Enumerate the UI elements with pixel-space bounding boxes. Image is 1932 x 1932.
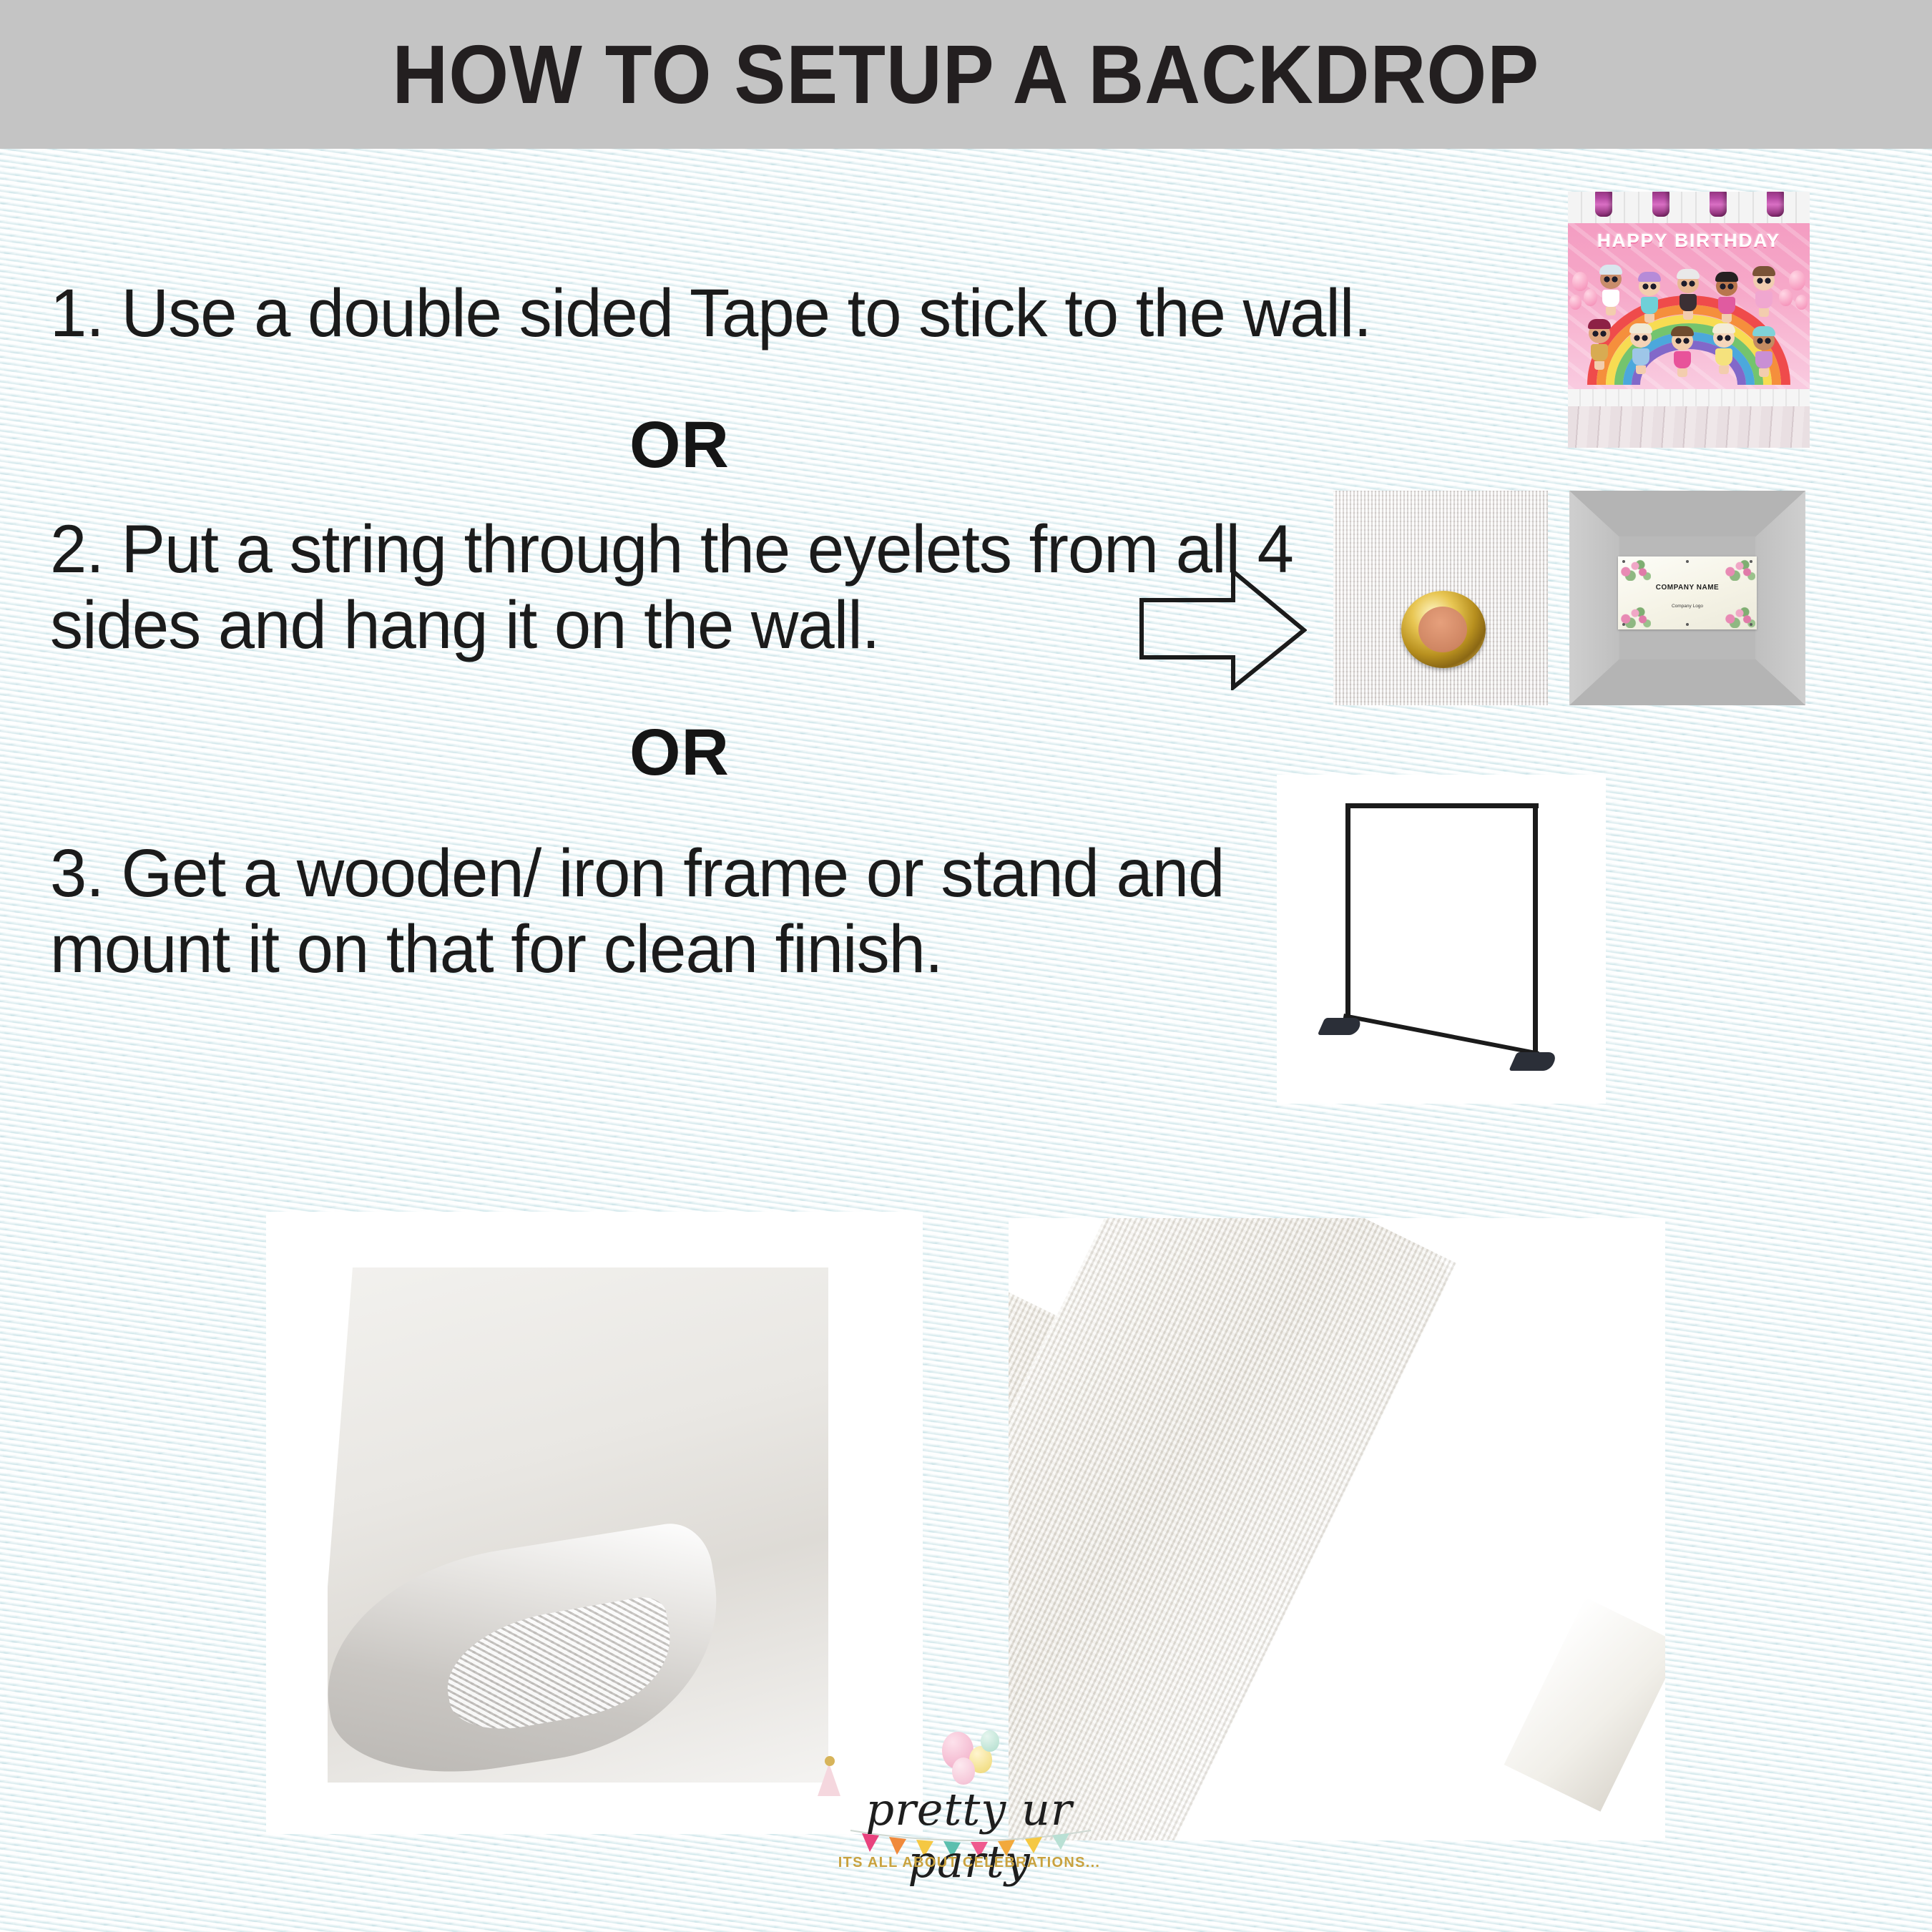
wooden-floor: [1568, 406, 1810, 448]
lol-doll: [1677, 273, 1700, 320]
lol-doll: [1599, 269, 1622, 315]
right-arrow-icon: [1139, 569, 1307, 690]
clip-strip: [1568, 192, 1810, 225]
photo-lol-birthday-backdrop: HAPPY BIRTHDAY: [1568, 192, 1810, 448]
party-hat-pom-icon: [825, 1756, 835, 1766]
wall-left-panel: [1569, 491, 1625, 705]
photo-backdrop-stand: [1277, 775, 1606, 1104]
backdrop-clip-icon: [1710, 192, 1727, 217]
separator-or-1: OR: [629, 408, 730, 483]
lol-backdrop-panel: HAPPY BIRTHDAY: [1568, 223, 1810, 389]
grommet-icon: [1750, 560, 1752, 563]
backdrop-clip-icon: [1595, 192, 1612, 217]
lol-doll: [1671, 330, 1694, 377]
backdrop-clip-icon: [1767, 192, 1784, 217]
floral-banner: COMPANY NAME Company Logo: [1618, 556, 1757, 629]
backdrop-clip-icon: [1652, 192, 1669, 217]
stand-foot-right: [1509, 1052, 1559, 1071]
grommet-icon: [1686, 623, 1689, 626]
balloon-decor: [1584, 289, 1597, 306]
infographic-canvas: HOW TO SETUP A BACKDROP 1. Use a double …: [0, 0, 1932, 1932]
brand-name: pretty ur party: [798, 1783, 1141, 1888]
balloon-decor: [1789, 270, 1805, 290]
lol-doll: [1712, 328, 1735, 374]
stand-top-bar: [1345, 803, 1539, 808]
balloon-decor: [1795, 295, 1808, 310]
photo-banner-on-wall: COMPANY NAME Company Logo: [1569, 491, 1805, 705]
grommet-icon: [1686, 560, 1689, 563]
stand-blank-sheet: [1323, 803, 1537, 1039]
brand-tagline: ITS ALL ABOUT CELEBRATIONS...: [798, 1855, 1141, 1871]
step-3-text: 3. Get a wooden/ iron frame or stand and…: [50, 835, 1271, 988]
lol-doll: [1715, 276, 1738, 323]
stand-left-post: [1345, 803, 1350, 1018]
lol-doll: [1588, 323, 1611, 370]
stand-right-post: [1533, 806, 1538, 1053]
page-title: HOW TO SETUP A BACKDROP: [393, 26, 1540, 122]
happy-birthday-text: HAPPY BIRTHDAY: [1568, 230, 1810, 252]
photo-eyelet-grommet: [1333, 491, 1548, 705]
lol-doll: [1629, 328, 1652, 374]
lol-doll: [1752, 330, 1775, 377]
wall-right-panel: [1750, 491, 1805, 705]
grommet-icon: [1750, 623, 1752, 626]
grommet-icon: [1622, 560, 1625, 563]
grommet-icon: [1622, 623, 1625, 626]
balloon-decor: [1779, 289, 1793, 306]
header-bar: HOW TO SETUP A BACKDROP: [0, 0, 1932, 149]
balloon-decor: [1572, 272, 1588, 291]
brand-logo: pretty ur party ITS ALL ABOUT CELEBRATIO…: [798, 1735, 1141, 1899]
separator-or-2: OR: [629, 715, 730, 790]
grommet-icon: [1401, 591, 1486, 668]
step-2-text: 2. Put a string through the eyelets from…: [50, 511, 1299, 664]
step-1-text: 1. Use a double sided Tape to stick to t…: [50, 275, 1371, 351]
banner-company-logo: Company Logo: [1618, 604, 1757, 609]
banner-company-name: COMPANY NAME: [1618, 584, 1757, 592]
vinyl-roll-edge: [1504, 1597, 1665, 1811]
balloon-decor: [1569, 295, 1582, 310]
lol-doll: [1752, 270, 1775, 317]
backdrop-bottom-strip: [1568, 389, 1810, 406]
lol-doll: [1638, 276, 1661, 323]
